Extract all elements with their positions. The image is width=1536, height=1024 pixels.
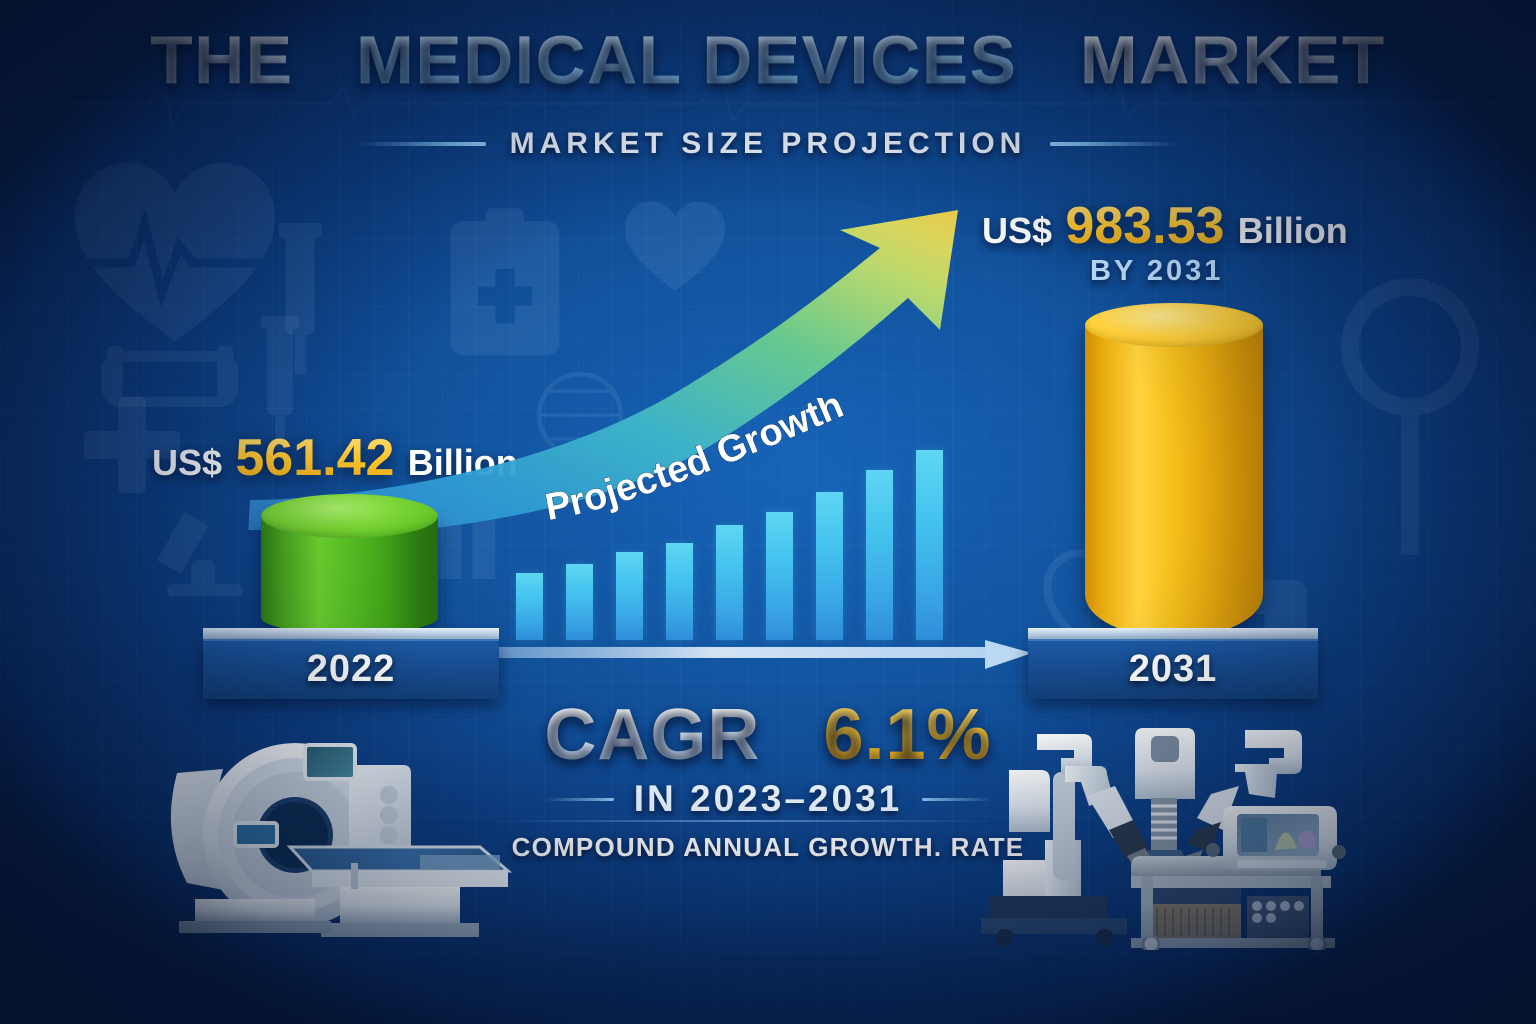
surgical-robot-illustration: [945, 700, 1385, 950]
pedestal-2031-top-surface: [1028, 628, 1318, 639]
page-subtitle: MARKET SIZE PROJECTION: [0, 127, 1536, 161]
cagr-label: CAGR: [544, 695, 760, 775]
title-word-the: THE: [150, 22, 293, 98]
trend-bar: [516, 573, 543, 640]
bar-cylinder-2031: [1085, 303, 1263, 638]
pedestal-2022-top-surface: [203, 628, 499, 639]
trend-bar: [766, 512, 793, 640]
ct-mri-scanner-illustration: [135, 723, 535, 938]
pedestal-2022-year-label: 2022: [307, 648, 396, 691]
pedestal-2031-year-label: 2031: [1129, 648, 1218, 691]
callout-2031-value: US$ 983.53 Billion: [982, 196, 1348, 256]
pedestal-2031-body: 2031: [1028, 639, 1318, 699]
pedestal-2031: 2031: [1028, 628, 1318, 699]
baseline-arrow-icon: [487, 640, 1032, 676]
cagr-dash-left-icon: [544, 798, 614, 801]
projected-growth-arrow-icon: [240, 200, 1000, 530]
hospital-bed-watermark: [100, 330, 240, 430]
pedestal-2022: 2022: [203, 628, 499, 699]
trend-bar: [566, 564, 593, 640]
trend-bar: [716, 525, 743, 640]
cylinder-2031-top: [1085, 303, 1263, 347]
trend-bar: [616, 552, 643, 640]
cagr-divider: [492, 820, 992, 822]
title-word-market: MARKET: [1080, 22, 1386, 98]
subtitle-text: MARKET SIZE PROJECTION: [510, 127, 1027, 161]
callout-right-number: 983.53: [1065, 197, 1224, 255]
pedestal-2022-body: 2022: [203, 639, 499, 699]
cylinder-2031-body: [1085, 325, 1263, 638]
callout-left-currency: US$: [152, 442, 222, 483]
bar-cylinder-2022: [261, 494, 438, 634]
infographic-canvas: THE MEDICAL DEVICES MARKET MARKET SIZE P…: [0, 0, 1536, 1024]
subtitle-dash-right-icon: [1050, 142, 1178, 146]
cylinder-2022-top: [261, 494, 438, 538]
cagr-period-text: IN 2023–2031: [634, 778, 902, 820]
page-title: THE MEDICAL DEVICES MARKET: [0, 26, 1536, 95]
callout-right-scale: Billion: [1238, 210, 1348, 251]
title-word-medical-devices: MEDICAL DEVICES: [356, 22, 1017, 98]
stethoscope-watermark: [1310, 250, 1510, 580]
subtitle-dash-left-icon: [358, 142, 486, 146]
callout-right-by-year: BY 2031: [1090, 255, 1223, 288]
trend-bar: [666, 543, 693, 640]
